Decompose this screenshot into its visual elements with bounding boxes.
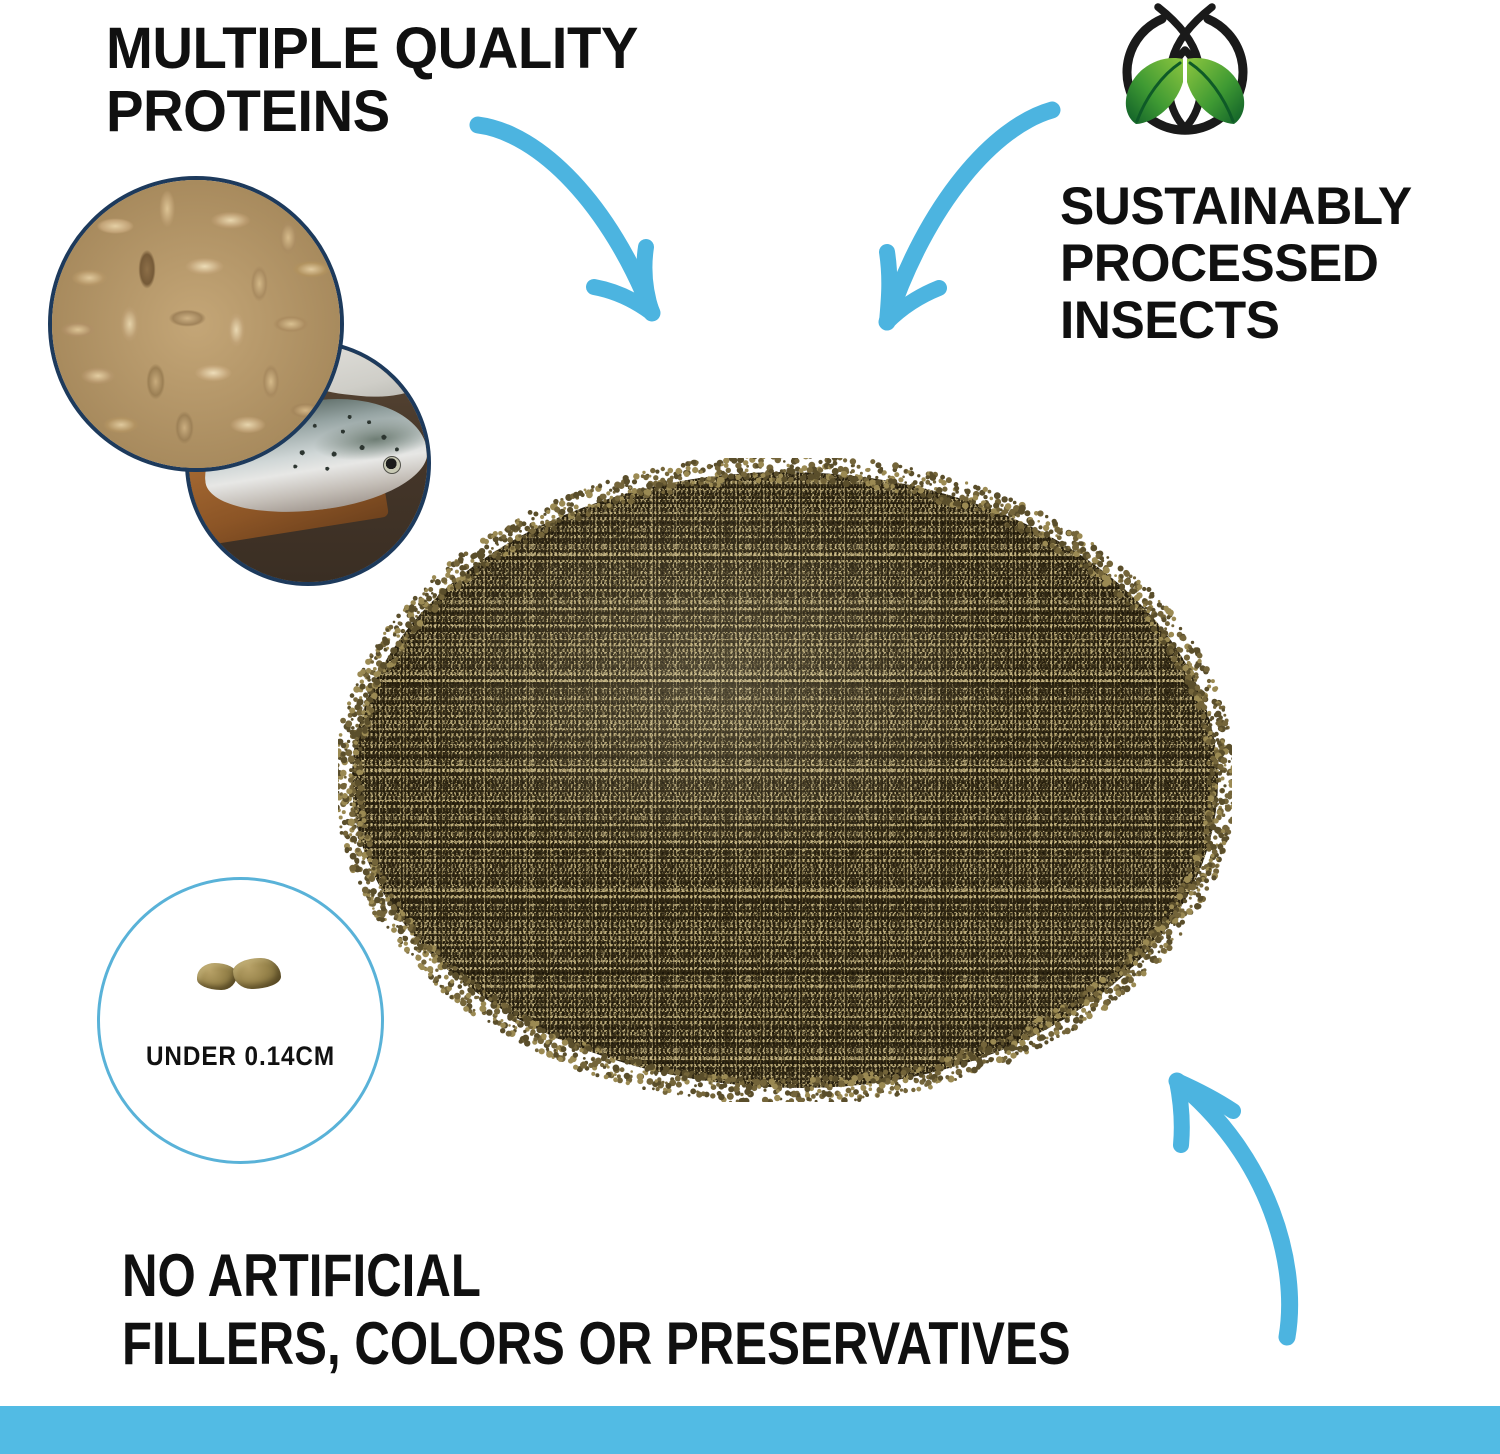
granule-icon (197, 963, 237, 990)
granule-sample (100, 954, 381, 994)
salmon-eye (383, 456, 401, 474)
photo-black-soldier-fly-larvae (48, 176, 344, 472)
size-callout-circle: UNDER 0.14CM (97, 877, 384, 1164)
product-pellet-pile (352, 472, 1218, 1088)
granule-icon (233, 958, 281, 989)
claim-multiple-quality-proteins: MULTIPLE QUALITY PROTEINS (106, 18, 638, 143)
claim-sustainably-processed-insects: SUSTAINABLY PROCESSED INSECTS (1060, 178, 1412, 350)
pellet-pile-shading (352, 472, 1218, 1088)
larvae-texture (52, 180, 340, 468)
arrow-insects (845, 100, 1065, 350)
size-label: UNDER 0.14CM (114, 1041, 367, 1072)
arrow-no-artificial (1135, 1045, 1335, 1345)
sustainable-insect-logo (1110, 2, 1260, 154)
claim-no-artificial-fillers: NO ARTIFICIAL FILLERS, COLORS OR PRESERV… (122, 1242, 1071, 1378)
infographic-page: MULTIPLE QUALITY PROTEINS SUSTAINABLY PR… (0, 0, 1500, 1454)
bottom-accent-bar (0, 1406, 1500, 1454)
